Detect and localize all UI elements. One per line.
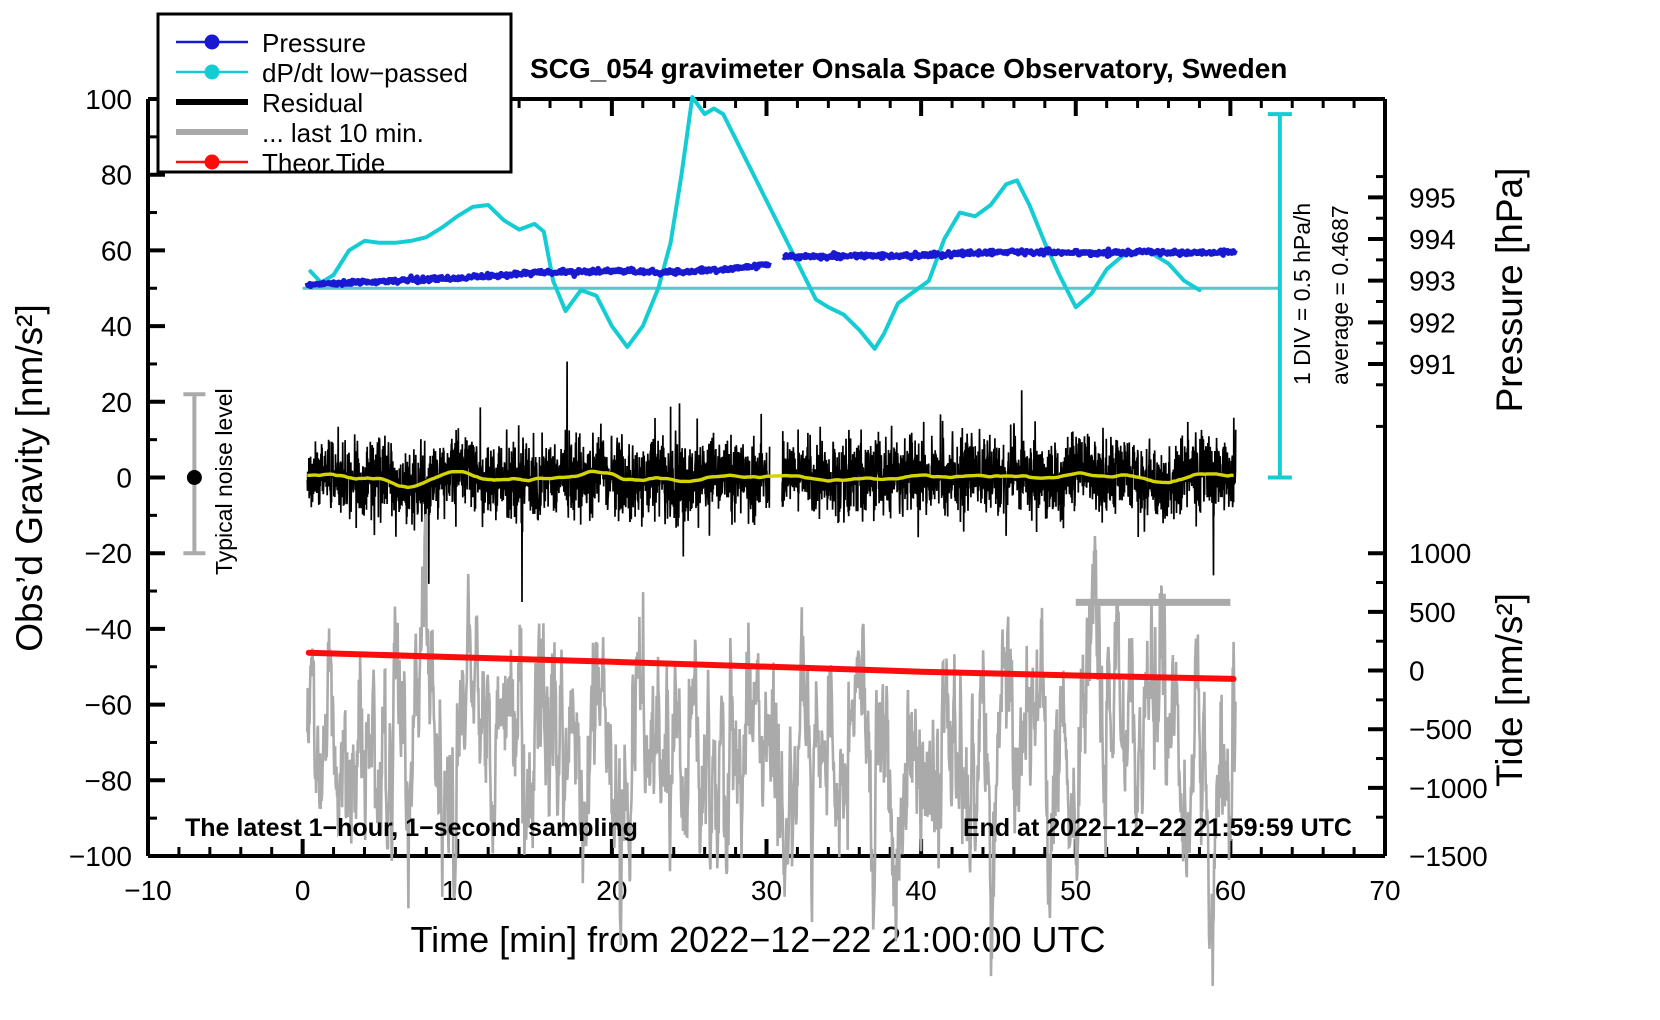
y-tick-label: 80 — [101, 160, 132, 191]
x-tick-label: 20 — [596, 875, 627, 906]
y-tick-label: −80 — [85, 765, 133, 796]
dpdt-div-label: 1 DIV = 0.5 hPa/h — [1289, 203, 1315, 385]
legend-marker-0 — [205, 35, 220, 50]
tide-axis-title: Tide [nm/s²] — [1489, 593, 1530, 787]
pressure-tick-label: 992 — [1409, 307, 1456, 338]
legend-label-2[interactable]: Residual — [262, 88, 363, 118]
legend-label-3[interactable]: ... last 10 min. — [262, 118, 424, 148]
pressure-axis-title: Pressure [hPa] — [1489, 168, 1530, 413]
noise-center-dot — [187, 470, 202, 485]
tide-tick-label: −500 — [1409, 714, 1472, 745]
tide-tick-label: −1000 — [1409, 773, 1488, 804]
y-tick-label: 60 — [101, 235, 132, 266]
x-tick-label: 10 — [442, 875, 473, 906]
y-tick-label: −60 — [85, 690, 133, 721]
legend-label-1[interactable]: dP/dt low−passed — [262, 58, 468, 88]
dpdt-average-label: average = 0.4687 — [1327, 205, 1353, 385]
chart-canvas: −10010203040506070 −100−80−60−40−2002040… — [0, 0, 1660, 1020]
legend-label-4[interactable]: Theor.Tide — [262, 148, 385, 178]
x-axis-title: Time [min] from 2022−12−22 21:00:00 UTC — [410, 919, 1105, 960]
footer-right-note: End at 2022−12−22 21:59:59 UTC — [963, 814, 1352, 842]
y-tick-label: 0 — [116, 463, 132, 494]
x-tick-label: 0 — [295, 875, 311, 906]
tide-tick-label: 500 — [1409, 597, 1456, 628]
legend-label-0[interactable]: Pressure — [262, 28, 366, 58]
x-tick-label: 70 — [1369, 875, 1400, 906]
tide-tick-label: −1500 — [1409, 841, 1488, 872]
tide-tick-label: 0 — [1409, 656, 1425, 687]
x-tick-label: −10 — [124, 875, 172, 906]
tide-tick-label: 1000 — [1409, 538, 1471, 569]
noise-level-label: Typical noise level — [211, 388, 237, 575]
x-tick-label: 40 — [906, 875, 937, 906]
x-tick-label: 30 — [751, 875, 782, 906]
y-tick-label: −20 — [85, 538, 133, 569]
x-tick-label: 60 — [1215, 875, 1246, 906]
y-tick-label: 100 — [85, 84, 132, 115]
gravimeter-chart: −10010203040506070 −100−80−60−40−2002040… — [0, 0, 1660, 1020]
y-tick-label: −100 — [69, 841, 132, 872]
legend-marker-1 — [205, 65, 220, 80]
y-tick-label: 20 — [101, 387, 132, 418]
pressure-tick-label: 995 — [1409, 182, 1456, 213]
y-axis-title: Obs’d Gravity [nm/s²] — [9, 304, 50, 651]
footer-left-note: The latest 1−hour, 1−second sampling — [185, 814, 638, 842]
pressure-tick-label: 994 — [1409, 224, 1456, 255]
pressure-tick-label: 993 — [1409, 266, 1456, 297]
legend[interactable]: PressuredP/dt low−passedResidual... last… — [158, 14, 511, 178]
pressure-tick-label: 991 — [1409, 349, 1456, 380]
y-tick-label: −40 — [85, 614, 133, 645]
legend-marker-4 — [205, 155, 220, 170]
y-tick-label: 40 — [101, 311, 132, 342]
page-title: SCG_054 gravimeter Onsala Space Observat… — [530, 53, 1287, 84]
